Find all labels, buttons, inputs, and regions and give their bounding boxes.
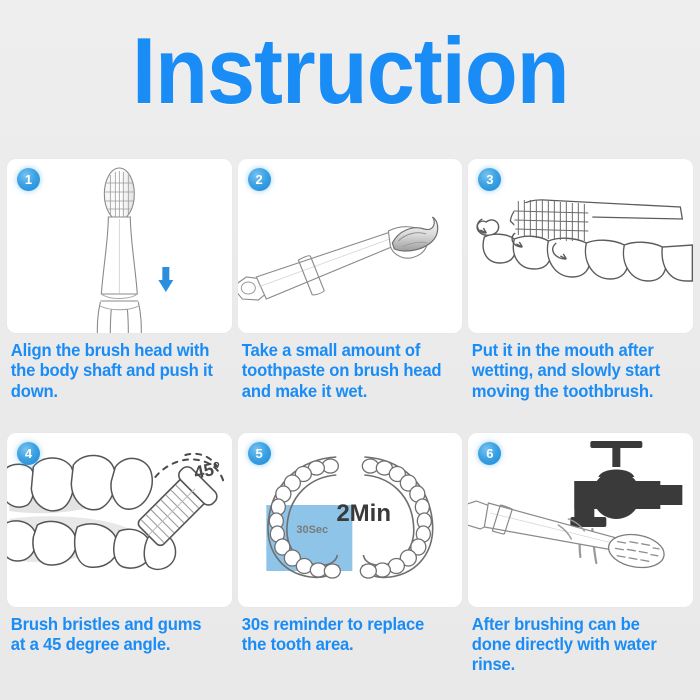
step-4-badge: 4 — [17, 442, 40, 465]
step-6-card: 6 — [468, 433, 693, 607]
timer-label: 2Min — [336, 500, 391, 527]
page-title: Instruction — [132, 24, 569, 118]
step-6-badge: 6 — [478, 442, 501, 465]
dental-arch-timer-icon: 2Min 30Sec — [238, 433, 463, 607]
steps-grid: 1 — [0, 155, 700, 700]
faucet-shape — [571, 441, 683, 527]
brush-45-degree-angle-icon: 45° — [7, 433, 232, 607]
instruction-poster: Instruction 1 — [0, 0, 700, 700]
step-5-caption: 30s reminder to replace the tooth area. — [238, 614, 451, 655]
step-2-caption: Take a small amount of toothpaste on bru… — [238, 340, 451, 401]
page-title-area: Instruction — [0, 0, 700, 142]
step-4: 4 — [5, 429, 234, 700]
step-1-badge: 1 — [17, 168, 40, 191]
down-arrow-icon — [158, 267, 173, 292]
step-2-badge: 2 — [248, 168, 271, 191]
toothbrush-head-align-icon — [7, 159, 232, 333]
step-6: 6 — [466, 429, 695, 700]
step-1: 1 — [5, 155, 234, 427]
quadrant-label: 30Sec — [296, 524, 328, 536]
faucet-rinse-icon — [468, 433, 693, 607]
brushing-teeth-icon — [468, 159, 693, 333]
step-1-card: 1 — [7, 159, 232, 333]
step-2-card: 2 — [238, 159, 463, 333]
step-6-caption: After brushing can be done directly with… — [468, 614, 681, 675]
step-5: 5 — [236, 429, 465, 700]
angle-label: 45° — [192, 457, 223, 482]
step-1-caption: Align the brush head with the body shaft… — [7, 340, 220, 401]
step-2: 2 — [236, 155, 465, 427]
toothbrush-with-toothpaste-icon — [238, 159, 463, 333]
step-3-card: 3 — [468, 159, 693, 333]
step-3: 3 — [466, 155, 695, 427]
step-5-badge: 5 — [248, 442, 271, 465]
step-4-card: 4 — [7, 433, 232, 607]
step-4-caption: Brush bristles and gums at a 45 degree a… — [7, 614, 220, 655]
step-5-card: 5 — [238, 433, 463, 607]
step-3-caption: Put it in the mouth after wetting, and s… — [468, 340, 681, 401]
